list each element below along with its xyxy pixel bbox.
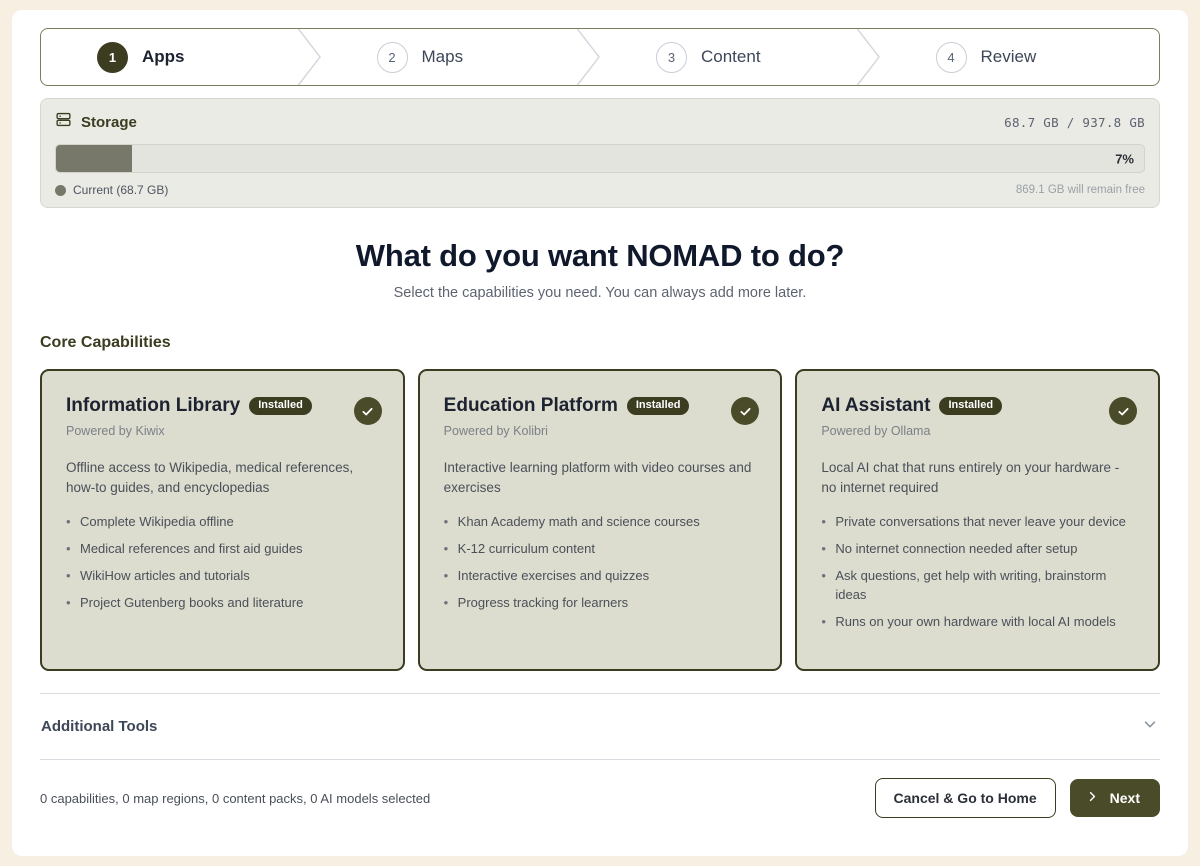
card-description: Interactive learning platform with video… (444, 458, 759, 497)
storage-remaining-note: 869.1 GB will remain free (1016, 184, 1145, 196)
step-number-badge: 1 (97, 42, 128, 73)
hero: What do you want NOMAD to do? Select the… (40, 238, 1160, 301)
card-powered-by: Powered by Ollama (821, 424, 1136, 438)
storage-panel: Storage 68.7 GB / 937.8 GB 7% Current (6… (40, 98, 1160, 208)
card-feature-list: Private conversations that never leave y… (821, 513, 1136, 631)
storage-usage-readout: 68.7 GB / 937.8 GB (1004, 115, 1145, 130)
list-item: Runs on your own hardware with local AI … (821, 613, 1136, 632)
additional-tools-accordion[interactable]: Additional Tools (40, 693, 1160, 760)
card-feature-list: Khan Academy math and science courses K-… (444, 513, 759, 612)
step-number-badge: 3 (656, 42, 687, 73)
step-number-badge: 2 (377, 42, 408, 73)
list-item: Complete Wikipedia offline (66, 513, 381, 532)
storage-title: Storage (81, 114, 137, 131)
card-feature-list: Complete Wikipedia offline Medical refer… (66, 513, 381, 612)
server-icon (55, 111, 72, 133)
step-review[interactable]: 4 Review (880, 29, 1160, 85)
step-divider-chevron-icon (855, 29, 881, 85)
capability-card-information-library[interactable]: Information Library Installed Powered by… (40, 369, 405, 671)
next-button[interactable]: Next (1070, 779, 1160, 817)
capability-card-ai-assistant[interactable]: AI Assistant Installed Powered by Ollama… (795, 369, 1160, 671)
selected-check-icon[interactable] (354, 397, 382, 425)
page-title: What do you want NOMAD to do? (40, 238, 1160, 274)
card-description: Offline access to Wikipedia, medical ref… (66, 458, 381, 497)
wizard-footer: 0 capabilities, 0 map regions, 0 content… (40, 778, 1160, 818)
step-label: Review (981, 47, 1037, 67)
list-item: Project Gutenberg books and literature (66, 594, 381, 613)
status-badge: Installed (939, 397, 1002, 415)
cancel-button[interactable]: Cancel & Go to Home (875, 778, 1056, 818)
card-title: Information Library (66, 395, 240, 417)
storage-progress-bar: 7% (55, 144, 1145, 173)
storage-progress-fill (56, 145, 132, 172)
chevron-down-icon[interactable] (1141, 715, 1159, 738)
list-item: Khan Academy math and science courses (444, 513, 759, 532)
list-item: WikiHow articles and tutorials (66, 567, 381, 586)
wizard-page: 1 Apps 2 Maps 3 Content 4 Review (12, 10, 1188, 856)
list-item: Progress tracking for learners (444, 594, 759, 613)
list-item: Interactive exercises and quizzes (444, 567, 759, 586)
next-button-label: Next (1110, 790, 1140, 806)
storage-legend-label: Current (68.7 GB) (73, 183, 168, 197)
page-subtitle: Select the capabilities you need. You ca… (40, 285, 1160, 301)
list-item: K-12 curriculum content (444, 540, 759, 559)
step-label: Content (701, 47, 761, 67)
additional-tools-label: Additional Tools (41, 718, 157, 735)
core-capabilities-heading: Core Capabilities (40, 334, 1160, 352)
capability-card-grid: Information Library Installed Powered by… (40, 369, 1160, 671)
storage-legend: Current (68.7 GB) (55, 183, 168, 197)
selection-summary: 0 capabilities, 0 map regions, 0 content… (40, 791, 430, 806)
selected-check-icon[interactable] (1109, 397, 1137, 425)
step-divider-chevron-icon (575, 29, 601, 85)
step-content[interactable]: 3 Content (600, 29, 880, 85)
capability-card-education-platform[interactable]: Education Platform Installed Powered by … (418, 369, 783, 671)
card-description: Local AI chat that runs entirely on your… (821, 458, 1136, 497)
wizard-stepper: 1 Apps 2 Maps 3 Content 4 Review (40, 28, 1160, 86)
legend-swatch-icon (55, 185, 66, 196)
list-item: Private conversations that never leave y… (821, 513, 1136, 532)
storage-percent-label: 7% (1115, 151, 1134, 166)
step-label: Apps (142, 47, 185, 67)
step-apps[interactable]: 1 Apps (41, 29, 321, 85)
card-powered-by: Powered by Kiwix (66, 424, 381, 438)
list-item: Medical references and first aid guides (66, 540, 381, 559)
selected-check-icon[interactable] (731, 397, 759, 425)
step-label: Maps (422, 47, 464, 67)
card-title: AI Assistant (821, 395, 930, 417)
list-item: Ask questions, get help with writing, br… (821, 567, 1136, 605)
step-maps[interactable]: 2 Maps (321, 29, 601, 85)
step-divider-chevron-icon (296, 29, 322, 85)
step-number-badge: 4 (936, 42, 967, 73)
status-badge: Installed (627, 397, 690, 415)
card-title: Education Platform (444, 395, 618, 417)
card-powered-by: Powered by Kolibri (444, 424, 759, 438)
list-item: No internet connection needed after setu… (821, 540, 1136, 559)
chevron-right-icon (1086, 790, 1099, 806)
status-badge: Installed (249, 397, 312, 415)
